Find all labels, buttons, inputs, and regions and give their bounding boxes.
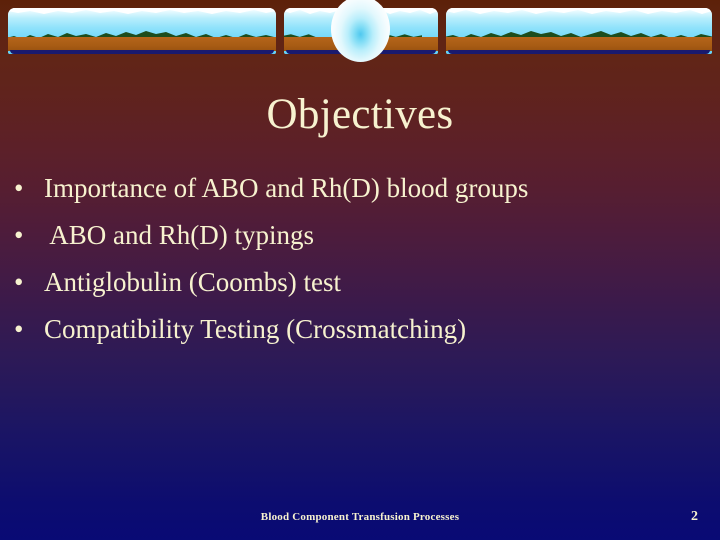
cloud-edge-icon	[446, 8, 712, 15]
list-item-label: ABO and Rh(D) typings	[44, 217, 704, 253]
bullet-point-icon: •	[14, 311, 44, 347]
cloud-edge-icon	[8, 8, 276, 15]
bullet-point-icon: •	[14, 217, 44, 253]
earth-band	[8, 37, 276, 51]
presentation-slide: Objectives • Importance of ABO and Rh(D)…	[0, 0, 720, 540]
landscape-panel-left	[8, 8, 276, 54]
slide-number: 2	[691, 509, 698, 525]
water-band	[448, 50, 710, 54]
slide-title: Objectives	[0, 90, 720, 140]
list-item-label: Importance of ABO and Rh(D) blood groups	[44, 170, 704, 206]
list-item-label: Compatibility Testing (Crossmatching)	[44, 311, 704, 347]
list-item: • Compatibility Testing (Crossmatching)	[14, 311, 704, 347]
water-band	[10, 50, 274, 54]
list-item: • ABO and Rh(D) typings	[14, 217, 704, 253]
earth-band	[446, 37, 712, 51]
objectives-bullet-list: • Importance of ABO and Rh(D) blood grou…	[14, 170, 704, 358]
list-item-label: Antiglobulin (Coombs) test	[44, 264, 704, 300]
footer-note: Blood Component Transfusion Processes	[0, 511, 720, 523]
list-item: • Antiglobulin (Coombs) test	[14, 264, 704, 300]
bullet-point-icon: •	[14, 170, 44, 206]
bullet-point-icon: •	[14, 264, 44, 300]
header-banner	[0, 0, 720, 70]
landscape-panel-right	[446, 8, 712, 54]
list-item: • Importance of ABO and Rh(D) blood grou…	[14, 170, 704, 206]
